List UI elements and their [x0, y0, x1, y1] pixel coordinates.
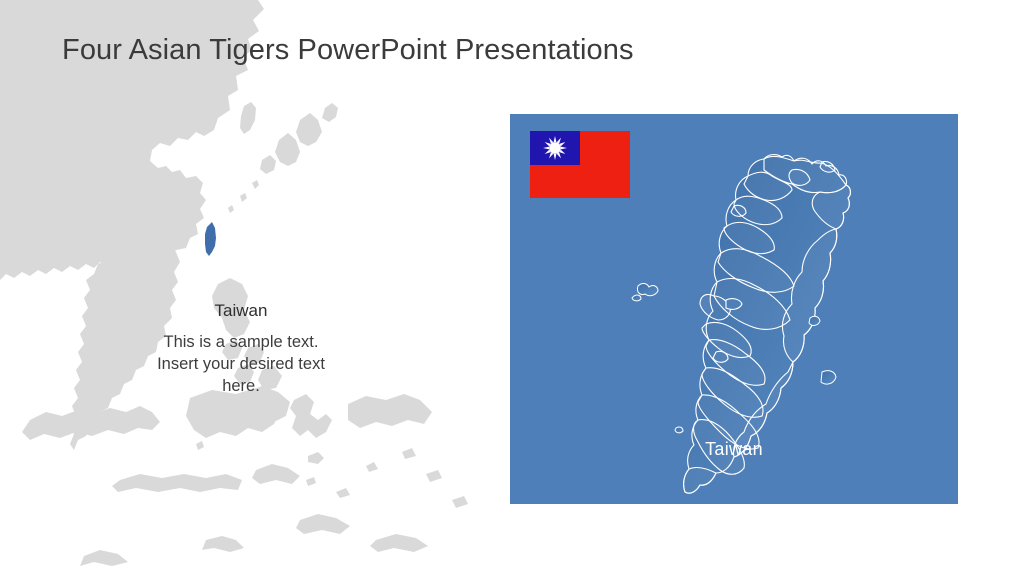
- island-green: [809, 316, 820, 325]
- presentation-slide: Four Asian Tigers PowerPoint Presentatio…: [0, 0, 1024, 576]
- region-chiayi-city: [713, 351, 728, 362]
- panel-country-label: Taiwan: [510, 439, 958, 460]
- page-title: Four Asian Tigers PowerPoint Presentatio…: [62, 33, 634, 68]
- taiwan-flag: [530, 131, 630, 198]
- island-orchid: [821, 371, 836, 384]
- taiwan-detail-panel: Taiwan: [510, 114, 958, 504]
- region-hsinchu-city: [731, 205, 746, 216]
- region-hengchun-tail: [684, 468, 716, 494]
- taiwan-callout: Taiwan This is a sample text. Insert you…: [128, 300, 354, 398]
- callout-body-line-1: This is a sample text.: [128, 332, 354, 354]
- highlighted-taiwan-shape: [205, 222, 216, 256]
- callout-body-line-3: here.: [128, 376, 354, 398]
- flag-sun-icon: [542, 135, 568, 161]
- island-xiaoliuqiu: [675, 427, 683, 433]
- lake-sun-moon: [726, 299, 742, 310]
- callout-body-line-2: Insert your desired text: [128, 354, 354, 376]
- callout-country-label: Taiwan: [128, 300, 354, 321]
- island-penghu-small: [632, 295, 641, 301]
- flag-canton: [530, 131, 580, 165]
- island-penghu: [637, 283, 658, 295]
- callout-body-text: This is a sample text. Insert your desir…: [128, 332, 354, 397]
- asia-landmass: [0, 0, 468, 566]
